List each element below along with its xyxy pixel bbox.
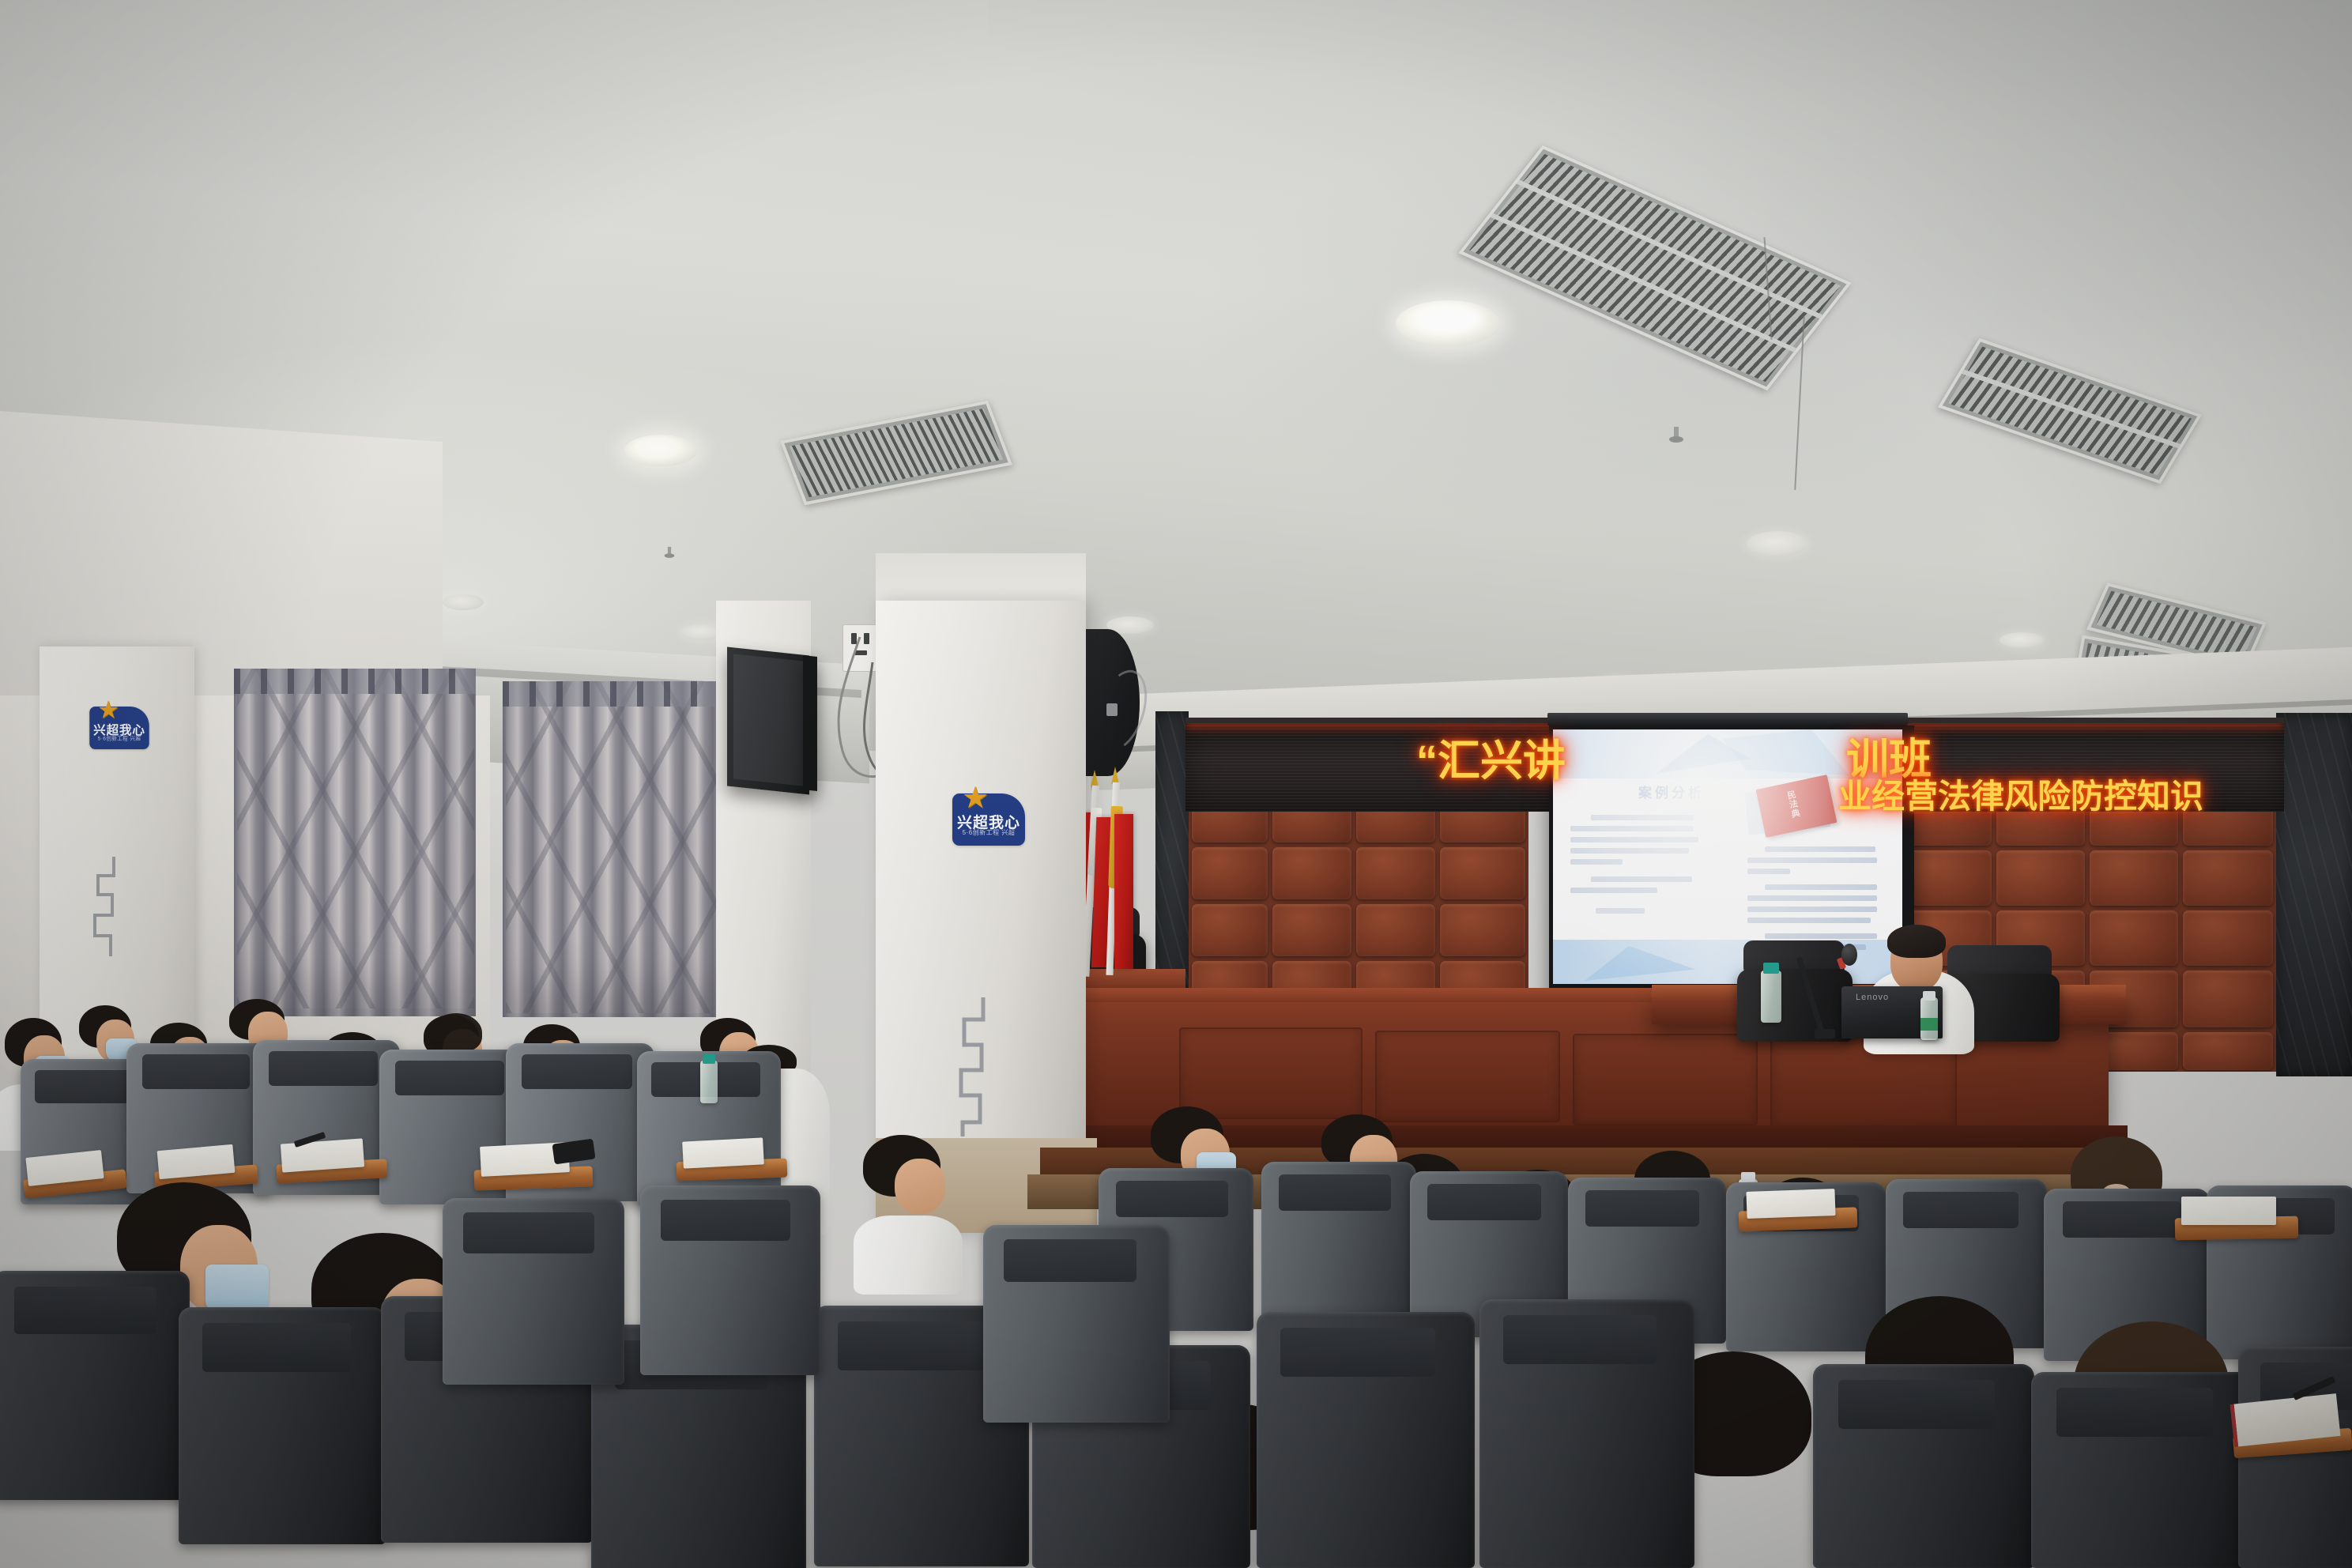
- seat-headband: [395, 1061, 504, 1095]
- zigzag-decor-left: [76, 855, 123, 958]
- seat-headband: [838, 1321, 991, 1370]
- seat[interactable]: [983, 1225, 1170, 1423]
- leather-pad: [2090, 910, 2178, 966]
- seat-headband: [2056, 1388, 2213, 1437]
- leather-pad: [1996, 850, 2085, 906]
- seat-headband: [522, 1054, 632, 1089]
- leather-pad: [1440, 904, 1525, 956]
- face-mask: [205, 1265, 269, 1312]
- bottle-cap: [1923, 991, 1935, 1001]
- zigzag-decor-center: [942, 996, 989, 1138]
- seat-headband: [1427, 1184, 1541, 1220]
- sprinkler-cap: [665, 553, 675, 558]
- curtain-left: [234, 669, 476, 1016]
- marble-column-right: [2276, 713, 2352, 1076]
- bottle-label: [1920, 1018, 1938, 1031]
- seat-headband: [142, 1054, 250, 1089]
- seat-headband: [1585, 1190, 1699, 1227]
- podium-panel: [1375, 1031, 1560, 1122]
- notes-paper: [2181, 1197, 2276, 1225]
- seat-headband: [1903, 1192, 2018, 1228]
- seat[interactable]: [0, 1271, 190, 1500]
- laptop-brand-label: Lenovo: [1856, 993, 1889, 1002]
- downlight-hotspot: [1415, 305, 1483, 332]
- curtain-header-left: [234, 669, 476, 694]
- notes-paper: [682, 1137, 764, 1168]
- logo-subtext: 5·6创新工程 兴超: [952, 828, 1025, 837]
- logo-subtext: 5·6创新工程 兴超: [89, 735, 149, 742]
- leather-pad: [1356, 847, 1435, 899]
- led-banner-line2-right: 业经营法律风险防控知识: [1838, 770, 2203, 818]
- sprinkler-head-small: [665, 547, 675, 561]
- auditorium-photo: “汇兴讲 训班 业经营法律风险防控知识 案例分析: [0, 0, 2352, 1568]
- flag-cloth: [1114, 814, 1133, 969]
- seat-headband: [1503, 1315, 1657, 1364]
- sprinkler-head: [1669, 427, 1683, 447]
- bottle-body: [700, 1061, 718, 1103]
- podium-panel: [1573, 1034, 1758, 1125]
- notes-paper: [281, 1138, 364, 1172]
- water-bottle-stage-left[interactable]: [1761, 971, 1781, 1023]
- leather-pad: [1272, 847, 1351, 899]
- water-bottle-audience[interactable]: [700, 1061, 718, 1103]
- company-logo-icon: 兴超我心 5·6创新工程 兴超: [89, 707, 149, 749]
- attendee: [857, 1135, 958, 1293]
- leather-pad: [1192, 847, 1268, 899]
- seat-headband: [2063, 1201, 2181, 1238]
- attendee-hair: [430, 1013, 482, 1053]
- attendee-face: [895, 1159, 945, 1214]
- led-banner-line1-left: “汇兴讲: [1416, 726, 1566, 788]
- leather-pad: [2183, 971, 2273, 1027]
- bottle-cap: [1763, 963, 1779, 974]
- attendee-shirt: [854, 1216, 963, 1295]
- seat[interactable]: [179, 1307, 386, 1544]
- presenter-chair: [1737, 940, 1853, 1042]
- seat-headband: [661, 1200, 790, 1241]
- seat-headband: [1279, 1174, 1391, 1211]
- leather-pad: [1272, 904, 1351, 956]
- seat[interactable]: [1479, 1299, 1694, 1568]
- leather-pad: [2183, 1032, 2273, 1070]
- seat[interactable]: [640, 1185, 820, 1375]
- seat[interactable]: [443, 1198, 624, 1385]
- leather-pad: [2183, 850, 2273, 906]
- leather-pad: [1903, 850, 1992, 906]
- seat-headband: [269, 1051, 378, 1086]
- seat[interactable]: [2031, 1372, 2252, 1568]
- ceiling-downlight: [1747, 531, 1808, 556]
- sprinkler-cap: [1669, 436, 1683, 443]
- podium-panel: [1179, 1027, 1363, 1119]
- seat-headband: [1838, 1380, 1995, 1429]
- curtain-right: [503, 681, 729, 1017]
- slogan-decal-center: 兴超我心 5·6创新工程 兴超: [929, 793, 1048, 854]
- seat-headband: [463, 1212, 594, 1253]
- flag-finial-icon: [1111, 767, 1119, 784]
- company-logo-icon: 兴超我心 5·6创新工程 兴超: [952, 793, 1025, 846]
- bottle-cap: [1741, 1172, 1755, 1182]
- seat-headband: [1004, 1239, 1136, 1282]
- leather-pad: [1356, 904, 1435, 956]
- seat-headband: [14, 1287, 156, 1334]
- leather-pad: [1440, 847, 1525, 899]
- water-bottle-stage-right[interactable]: [1920, 997, 1938, 1040]
- slogan-decal-left: 兴超我心 5·6创新工程 兴超: [68, 702, 171, 762]
- seat[interactable]: [1813, 1364, 2034, 1568]
- leather-pad: [2090, 850, 2178, 906]
- seat-headband: [35, 1070, 139, 1103]
- seat[interactable]: [1261, 1162, 1416, 1325]
- seat-headband: [1116, 1181, 1228, 1217]
- ceiling-downlight: [443, 594, 484, 610]
- bottle-body: [1761, 971, 1781, 1023]
- bottle-cap: [703, 1054, 715, 1064]
- mic-capsule: [1841, 944, 1857, 966]
- leather-pad: [2183, 910, 2273, 966]
- ceiling-downlight: [2000, 632, 2044, 648]
- curtain-header-right: [503, 681, 729, 707]
- presenter-hair: [1887, 925, 1946, 958]
- chair-backrest: [1737, 969, 1853, 1042]
- seat[interactable]: [1257, 1312, 1475, 1568]
- ceiling-downlight: [624, 435, 697, 466]
- flag-finial-icon: [1091, 770, 1099, 787]
- seat-headband: [202, 1323, 351, 1372]
- notes-paper: [1746, 1189, 1835, 1219]
- leather-pad: [1192, 904, 1268, 956]
- seat-headband: [1280, 1328, 1435, 1377]
